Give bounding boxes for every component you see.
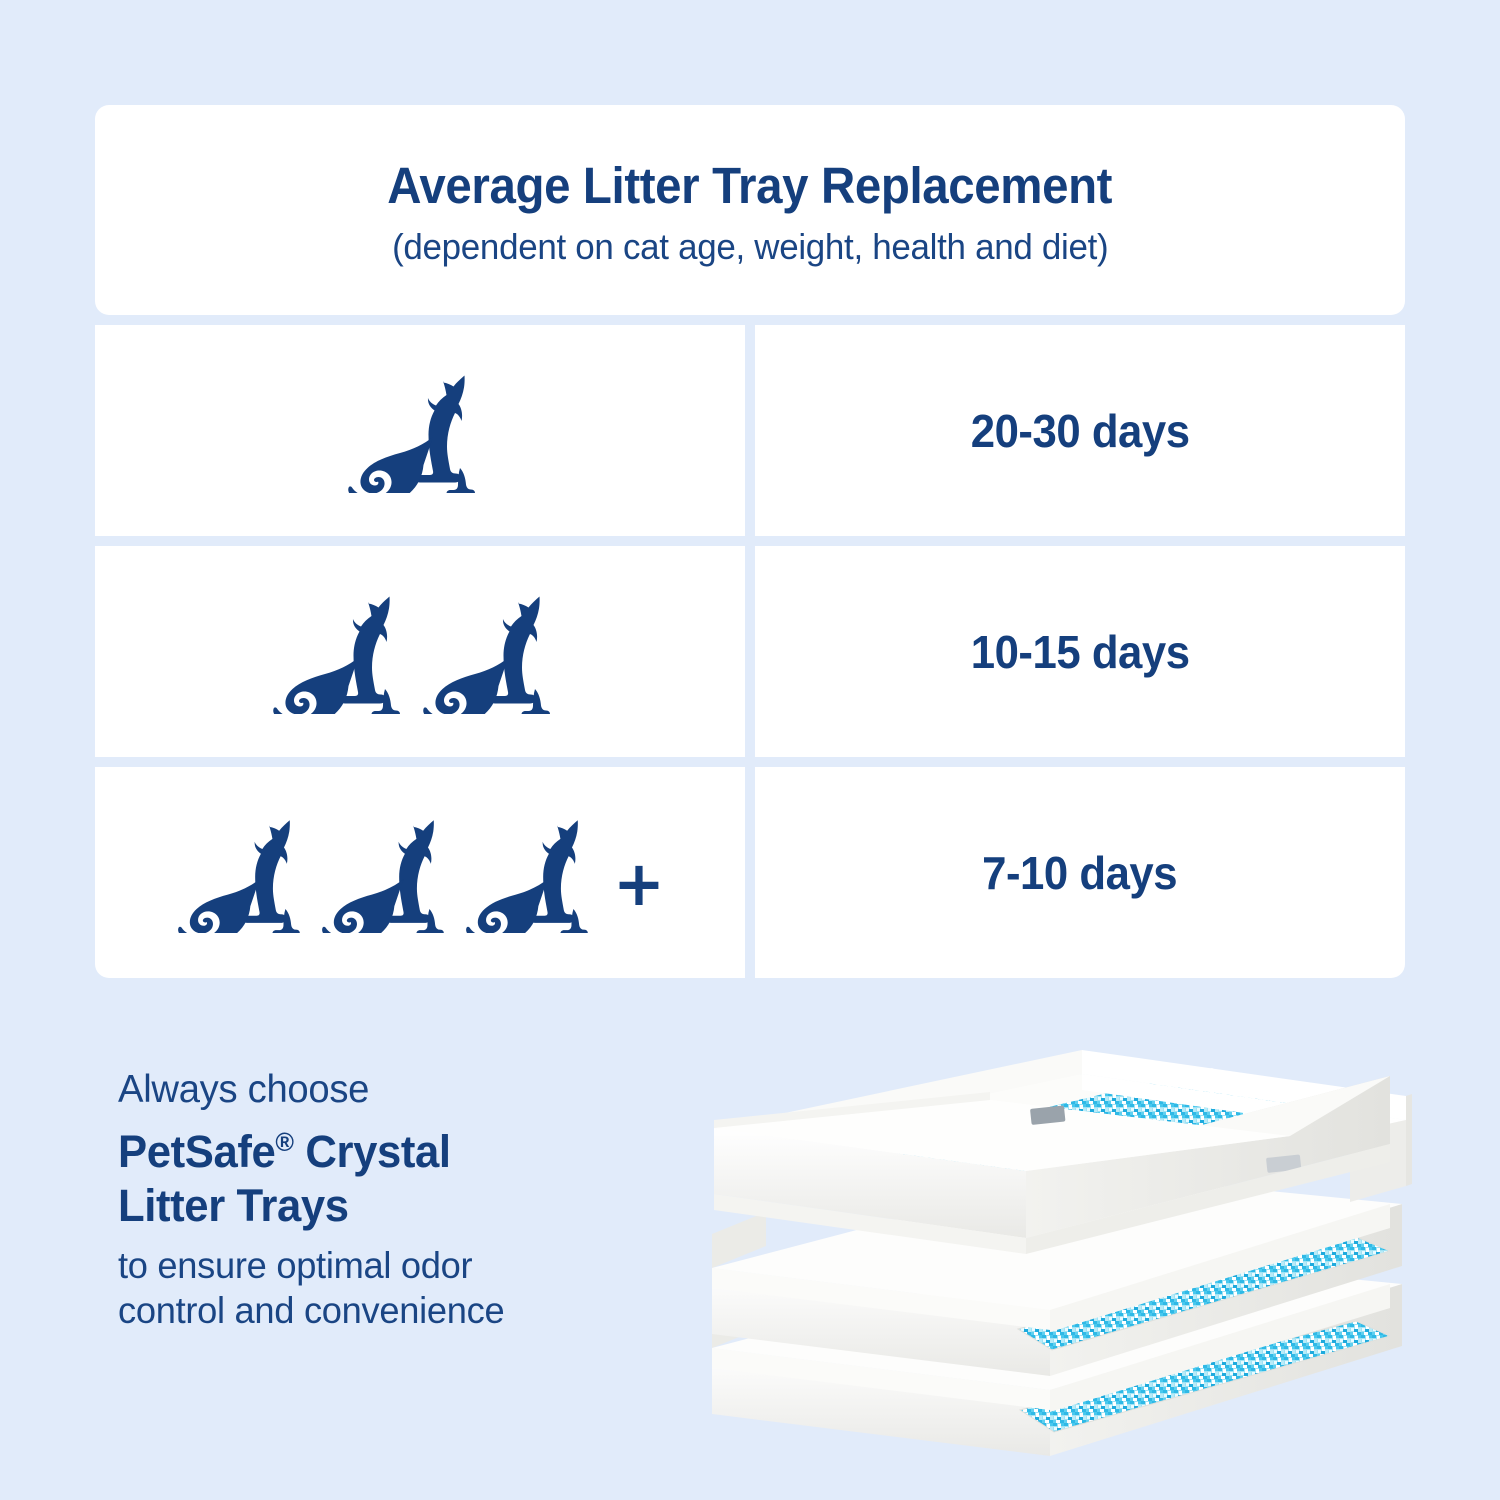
table-header-panel: Average Litter Tray Replacement (depende… [95,105,1405,315]
cat-silhouette-icon [270,589,420,714]
brand-suffix: Crystal [294,1126,451,1177]
cat-group-2 [270,589,570,714]
footer-text-block: Always choose PetSafe® CrystalLitter Tra… [118,1066,698,1333]
footer-tail-line-1: to ensure optimal odor [118,1245,472,1286]
page-subtitle: (dependent on cat age, weight, health an… [392,227,1108,267]
cat-group-1 [345,368,495,493]
cat-count-cell-1 [95,325,745,536]
footer-tail-text: to ensure optimal odorcontrol and conven… [118,1243,686,1333]
footer-tail-line-2: control and convenience [118,1290,504,1331]
brand-name: PetSafe [118,1126,275,1177]
days-value: 10-15 days [971,625,1190,679]
days-cell-3: 7-10 days [755,767,1405,978]
days-cell-2: 10-15 days [755,546,1405,757]
cat-count-cell-3: + [95,767,745,978]
days-cell-1: 20-30 days [755,325,1405,536]
cat-count-cell-2 [95,546,745,757]
brand-line-2: Litter Trays [118,1180,349,1231]
table-row: + 7-10 days [95,767,1405,978]
replacement-table-card: Average Litter Tray Replacement (depende… [95,105,1405,978]
registered-mark: ® [275,1127,293,1157]
table-row: 20-30 days [95,325,1405,536]
days-value: 20-30 days [971,404,1190,458]
cat-silhouette-icon [420,589,570,714]
cat-silhouette-icon [345,368,495,493]
footer-line-1: Always choose [118,1066,686,1115]
table-rows: 20-30 days [95,325,1405,978]
cat-silhouette-icon [319,813,463,933]
cat-silhouette-icon [175,813,319,933]
days-value: 7-10 days [983,846,1178,900]
table-row: 10-15 days [95,546,1405,757]
cat-group-3: + [175,813,665,933]
infographic-root: Average Litter Tray Replacement (depende… [0,0,1500,1500]
page-title: Average Litter Tray Replacement [388,159,1113,213]
cat-silhouette-icon [463,813,607,933]
footer-brand-line: PetSafe® CrystalLitter Trays [118,1125,681,1233]
plus-icon: + [613,853,665,915]
product-photo-litter-tray-stack [690,1016,1420,1456]
